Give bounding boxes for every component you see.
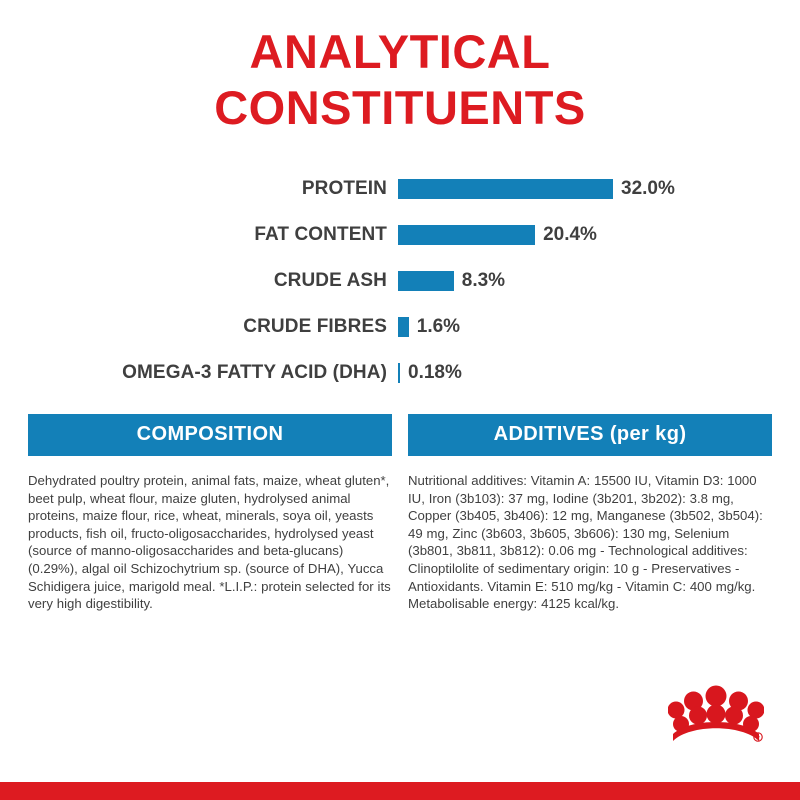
additives-panel-text: Nutritional additives: Vitamin A: 15500 … bbox=[408, 456, 772, 613]
chart-row: PROTEIN32.0% bbox=[0, 166, 800, 212]
page-title-line-1: ANALYTICAL bbox=[0, 24, 800, 80]
chart-bar-track: 8.3% bbox=[398, 258, 800, 304]
chart-bar-track: 1.6% bbox=[398, 304, 800, 350]
chart-bar bbox=[398, 271, 454, 291]
analytical-constituents-chart: PROTEIN32.0%FAT CONTENT20.4%CRUDE ASH8.3… bbox=[0, 166, 800, 396]
bottom-red-bar bbox=[0, 782, 800, 800]
chart-category-label: OMEGA-3 FATTY ACID (DHA) bbox=[0, 362, 398, 384]
royal-canin-crown-logo: R bbox=[668, 684, 764, 748]
chart-row: FAT CONTENT20.4% bbox=[0, 212, 800, 258]
chart-bar bbox=[398, 225, 535, 245]
chart-category-label: CRUDE ASH bbox=[0, 270, 398, 292]
chart-row: CRUDE ASH8.3% bbox=[0, 258, 800, 304]
chart-bar-track: 32.0% bbox=[398, 166, 800, 212]
chart-bar bbox=[398, 179, 613, 199]
chart-bar bbox=[398, 317, 409, 337]
additives-panel-header: ADDITIVES (per kg) bbox=[408, 414, 772, 456]
chart-row: OMEGA-3 FATTY ACID (DHA)0.18% bbox=[0, 350, 800, 396]
info-panels: COMPOSITION Dehydrated poultry protein, … bbox=[28, 414, 772, 613]
chart-category-label: PROTEIN bbox=[0, 178, 398, 200]
chart-bar-track: 20.4% bbox=[398, 212, 800, 258]
page-title: ANALYTICAL CONSTITUENTS bbox=[0, 24, 800, 136]
chart-category-label: FAT CONTENT bbox=[0, 224, 398, 246]
composition-panel-text: Dehydrated poultry protein, animal fats,… bbox=[28, 456, 392, 613]
analytical-constituents-page: ANALYTICAL CONSTITUENTS PROTEIN32.0%FAT … bbox=[0, 0, 800, 800]
additives-panel: ADDITIVES (per kg) Nutritional additives… bbox=[408, 414, 772, 613]
chart-value-label: 8.3% bbox=[462, 270, 505, 292]
svg-text:R: R bbox=[756, 736, 760, 742]
chart-category-label: CRUDE FIBRES bbox=[0, 316, 398, 338]
chart-value-label: 0.18% bbox=[408, 362, 462, 384]
chart-value-label: 1.6% bbox=[417, 316, 460, 338]
composition-panel-header: COMPOSITION bbox=[28, 414, 392, 456]
chart-bar bbox=[398, 363, 400, 383]
chart-value-label: 20.4% bbox=[543, 224, 597, 246]
chart-bar-track: 0.18% bbox=[398, 350, 800, 396]
composition-panel: COMPOSITION Dehydrated poultry protein, … bbox=[28, 414, 392, 613]
chart-row: CRUDE FIBRES1.6% bbox=[0, 304, 800, 350]
page-title-line-2: CONSTITUENTS bbox=[0, 80, 800, 136]
chart-value-label: 32.0% bbox=[621, 178, 675, 200]
